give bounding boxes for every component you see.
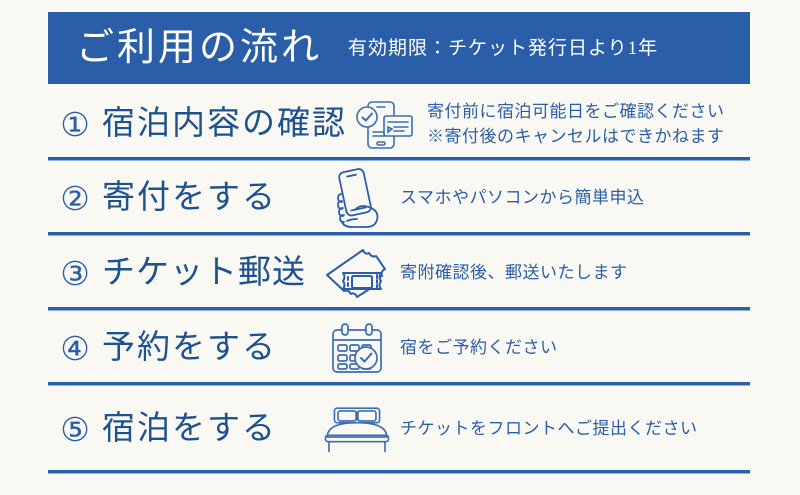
step-row-2: ② 寄付をする スマホやパソコンから簡単: [48, 161, 750, 236]
tickets-icon: [320, 247, 394, 301]
step-description-4-line1: 宿をご予約ください: [400, 336, 558, 361]
step-description-5: チケットをフロントへご提出ください: [400, 417, 698, 442]
validity-note: 有効期限：チケット発行日より1年: [348, 39, 658, 58]
step-number-5: ⑤: [48, 413, 102, 446]
step-row-3: ③ チケット郵送 寄附確認後、郵送いたします: [48, 236, 750, 311]
step-title-5: 宿泊をする: [102, 413, 320, 446]
step-description-5-line1: チケットをフロントへご提出ください: [400, 417, 698, 442]
step-description-2-line1: スマホやパソコンから簡単申込: [400, 186, 645, 211]
bed-icon: [320, 400, 394, 458]
steps-list: ① 宿泊内容の確認 寄付前に宿: [48, 88, 750, 472]
step-description-1-line1: 寄付前に宿泊可能日をご確認ください: [427, 100, 725, 125]
step-description-2: スマホやパソコンから簡単申込: [400, 186, 645, 211]
step-number-1: ①: [48, 108, 102, 141]
step-title-4: 予約をする: [102, 332, 320, 365]
hand-holding-smartphone-icon: [320, 168, 394, 230]
step-row-5: ⑤ 宿泊をする チケットをフロントへご提出ください: [48, 386, 750, 472]
step-title-1: 宿泊内容の確認: [102, 108, 347, 141]
step-row-4: ④ 予約をする: [48, 311, 750, 386]
calendar-check-icon: [320, 322, 394, 376]
smartphone-check-card-icon: [347, 98, 421, 152]
step-title-2: 寄付をする: [102, 182, 320, 215]
usage-flow-infographic: ご利用の流れ 有効期限：チケット発行日より1年 ① 宿泊内容の確認: [0, 0, 800, 495]
step-description-4: 宿をご予約ください: [400, 336, 558, 361]
page-title: ご利用の流れ: [76, 29, 322, 67]
step-number-4: ④: [48, 332, 102, 365]
step-description-1-line2: ※寄付後のキャンセルはできかねます: [427, 125, 725, 150]
bottom-divider: [48, 470, 750, 474]
step-number-2: ②: [48, 182, 102, 215]
step-number-3: ③: [48, 257, 102, 290]
step-description-1: 寄付前に宿泊可能日をご確認ください ※寄付後のキャンセルはできかねます: [427, 100, 725, 149]
step-row-1: ① 宿泊内容の確認 寄付前に宿: [48, 88, 750, 161]
step-title-3: チケット郵送: [102, 257, 320, 290]
step-description-3-line1: 寄附確認後、郵送いたします: [400, 261, 628, 286]
header-bar: ご利用の流れ 有効期限：チケット発行日より1年: [48, 12, 750, 84]
step-description-3: 寄附確認後、郵送いたします: [400, 261, 628, 286]
